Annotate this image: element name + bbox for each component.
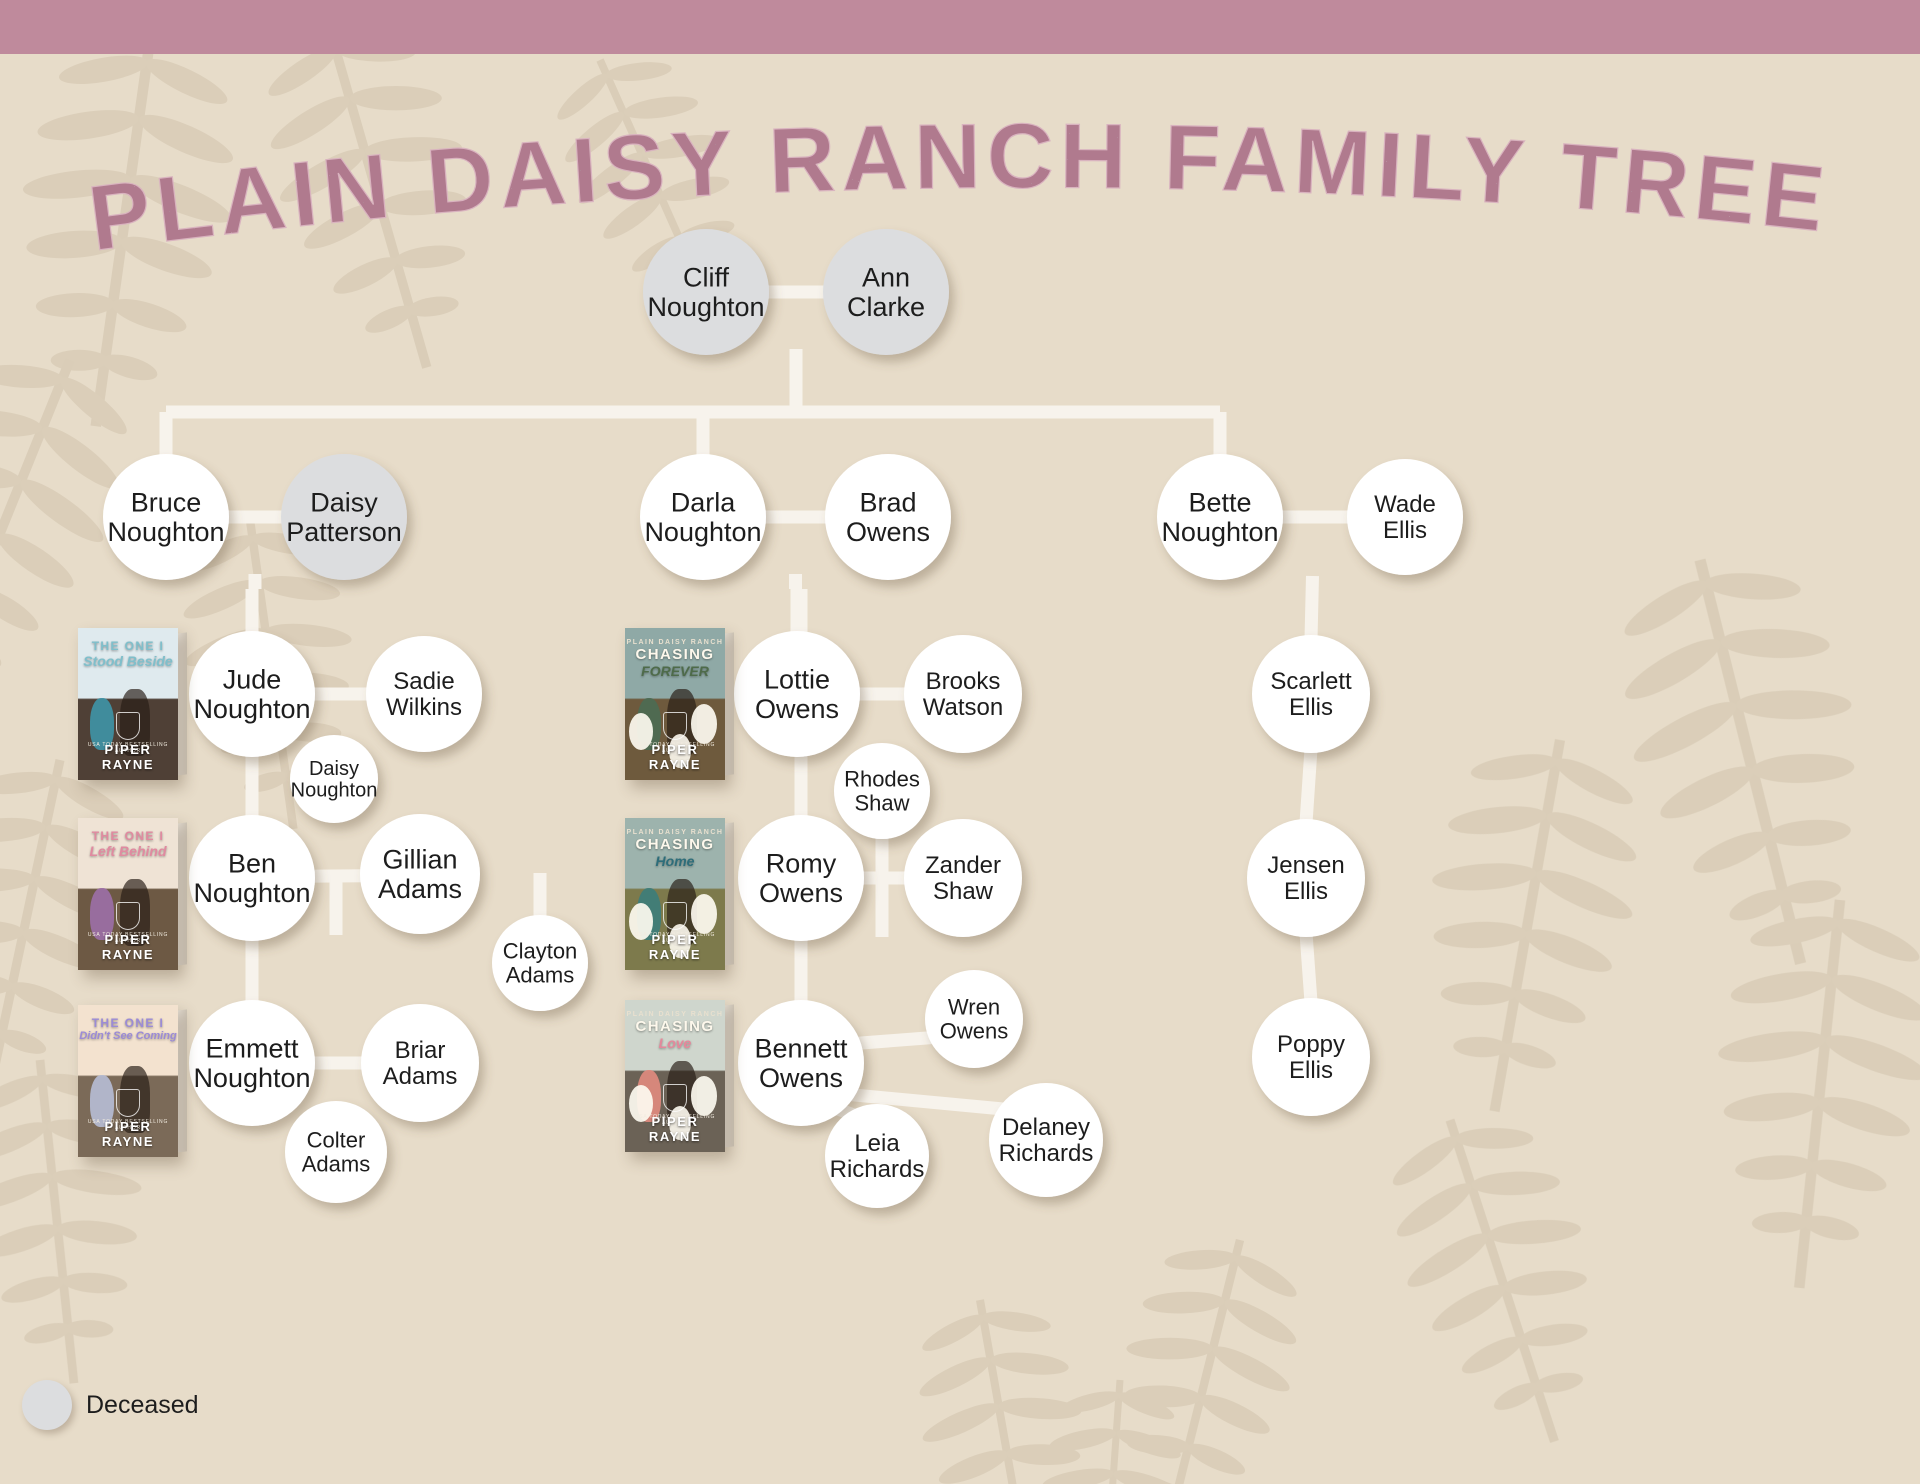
book-title-line2: Home — [625, 853, 725, 869]
book-didnt-see-coming[interactable]: THE ONE IDidn't See ComingUSA TODAY BEST… — [78, 1005, 178, 1157]
tree-node-sadie[interactable]: SadieWilkins — [366, 636, 482, 752]
book-author: PIPER RAYNE — [625, 742, 725, 772]
book-series-label: PLAIN DAISY RANCH — [625, 1011, 725, 1018]
book-cover-art: THE ONE IStood BesideUSA TODAY BESTSELLI… — [78, 628, 178, 780]
tree-node-delaney[interactable]: DelaneyRichards — [989, 1083, 1103, 1197]
tree-node-ben[interactable]: BenNoughton — [189, 815, 315, 941]
book-author: PIPER RAYNE — [625, 1114, 725, 1144]
book-title-line1: THE ONE I — [78, 639, 178, 653]
tree-node-scarlett[interactable]: ScarlettEllis — [1252, 635, 1370, 753]
top-band — [0, 0, 1920, 54]
node-label: ZanderShaw — [925, 852, 1001, 905]
descent-link — [1306, 749, 1311, 823]
node-label: WadeEllis — [1374, 491, 1436, 544]
tree-node-briar[interactable]: BriarAdams — [361, 1004, 479, 1122]
descent-link — [1306, 933, 1311, 1002]
node-label: ClaytonAdams — [503, 939, 578, 988]
tree-node-bette[interactable]: BetteNoughton — [1157, 454, 1283, 580]
tree-node-lottie[interactable]: LottieOwens — [734, 631, 860, 757]
book-chasing-love[interactable]: PLAIN DAISY RANCHCHASINGLoveUSA TODAY BE… — [625, 1000, 725, 1152]
node-label: LottieOwens — [755, 665, 839, 724]
svg-text:PLAIN DAISY RANCH FAMILY TREE: PLAIN DAISY RANCH FAMILY TREE — [83, 106, 1835, 271]
descent-link — [1311, 576, 1313, 639]
node-label: RhodesShaw — [844, 767, 920, 816]
node-label: DelaneyRichards — [999, 1114, 1094, 1167]
node-label: GillianAdams — [378, 845, 462, 904]
node-label: SadieWilkins — [386, 668, 462, 721]
tree-node-gillian[interactable]: GillianAdams — [360, 814, 480, 934]
book-title-line1: CHASING — [625, 1018, 725, 1035]
book-title-line2: Didn't See Coming — [78, 1030, 178, 1042]
book-cover-art: THE ONE IDidn't See ComingUSA TODAY BEST… — [78, 1005, 178, 1157]
book-cover-art: PLAIN DAISY RANCHCHASINGLoveUSA TODAY BE… — [625, 1000, 725, 1152]
node-label: WrenOwens — [940, 995, 1008, 1044]
tree-node-bennett[interactable]: BennettOwens — [738, 1000, 864, 1126]
tree-node-colter[interactable]: ColterAdams — [285, 1101, 387, 1203]
book-series-label: PLAIN DAISY RANCH — [625, 829, 725, 836]
tree-node-brad[interactable]: BradOwens — [825, 454, 951, 580]
legend-label: Deceased — [86, 1391, 199, 1420]
book-logo-badge — [663, 902, 687, 930]
tree-node-rhodes[interactable]: RhodesShaw — [834, 743, 930, 839]
node-label: EmmettNoughton — [193, 1034, 310, 1093]
book-author: PIPER RAYNE — [78, 932, 178, 962]
book-logo-badge — [663, 1084, 687, 1112]
node-label: BennettOwens — [754, 1034, 848, 1093]
book-title-line2: Stood Beside — [78, 653, 178, 669]
book-author: PIPER RAYNE — [625, 932, 725, 962]
tree-node-darla[interactable]: DarlaNoughton — [640, 454, 766, 580]
book-title-line2: Love — [625, 1035, 725, 1051]
book-cover-art: THE ONE ILeft BehindUSA TODAY BESTSELLIN… — [78, 818, 178, 970]
tree-node-bruce[interactable]: BruceNoughton — [103, 454, 229, 580]
tree-node-wade[interactable]: WadeEllis — [1347, 459, 1463, 575]
book-series-label: PLAIN DAISY RANCH — [625, 639, 725, 646]
book-logo-badge — [116, 712, 140, 740]
tree-nodes: CliffNoughtonAnnClarkeBruceNoughtonDaisy… — [103, 229, 1463, 1208]
node-label: RomyOwens — [759, 849, 843, 908]
tree-node-poppy[interactable]: PoppyEllis — [1252, 998, 1370, 1116]
tree-node-jude[interactable]: JudeNoughton — [189, 631, 315, 757]
book-cover-art: PLAIN DAISY RANCHCHASINGFOREVERUSA TODAY… — [625, 628, 725, 780]
book-title-line2: Left Behind — [78, 843, 178, 859]
book-title-line2: FOREVER — [625, 663, 725, 679]
tree-node-jensen[interactable]: JensenEllis — [1247, 819, 1365, 937]
book-title-line1: CHASING — [625, 646, 725, 663]
book-stood-beside[interactable]: THE ONE IStood BesideUSA TODAY BESTSELLI… — [78, 628, 178, 780]
book-title-line1: THE ONE I — [78, 1016, 178, 1030]
node-label: BrooksWatson — [923, 668, 1003, 721]
book-chasing-home[interactable]: PLAIN DAISY RANCHCHASINGHomeUSA TODAY BE… — [625, 818, 725, 970]
node-label: ColterAdams — [302, 1128, 370, 1177]
tree-node-brooks[interactable]: BrooksWatson — [904, 635, 1022, 753]
book-logo-badge — [116, 1089, 140, 1117]
tree-node-emmett[interactable]: EmmettNoughton — [189, 1000, 315, 1126]
book-author: PIPER RAYNE — [78, 742, 178, 772]
book-title-line1: THE ONE I — [78, 829, 178, 843]
page-title: PLAIN DAISY RANCH FAMILY TREE PLAIN DAIS… — [0, 88, 1920, 278]
book-title-line1: CHASING — [625, 836, 725, 853]
book-author: PIPER RAYNE — [78, 1119, 178, 1149]
tree-node-zander[interactable]: ZanderShaw — [904, 819, 1022, 937]
legend-deceased: Deceased — [22, 1380, 199, 1430]
book-left-behind[interactable]: THE ONE ILeft BehindUSA TODAY BESTSELLIN… — [78, 818, 178, 970]
book-chasing-forever[interactable]: PLAIN DAISY RANCHCHASINGFOREVERUSA TODAY… — [625, 628, 725, 780]
book-logo-badge — [663, 712, 687, 740]
book-cover-art: PLAIN DAISY RANCHCHASINGHomeUSA TODAY BE… — [625, 818, 725, 970]
tree-node-leia[interactable]: LeiaRichards — [825, 1104, 929, 1208]
tree-node-wren[interactable]: WrenOwens — [925, 970, 1023, 1068]
page-title-speckle: PLAIN DAISY RANCH FAMILY TREE — [83, 106, 1835, 271]
tree-node-clayton[interactable]: ClaytonAdams — [492, 915, 588, 1011]
book-logo-badge — [116, 902, 140, 930]
tree-node-daisyn[interactable]: DaisyNoughton — [290, 735, 378, 823]
tree-node-romy[interactable]: RomyOwens — [738, 815, 864, 941]
tree-node-daisyp[interactable]: DaisyPatterson — [281, 454, 407, 580]
legend-swatch — [22, 1380, 72, 1430]
